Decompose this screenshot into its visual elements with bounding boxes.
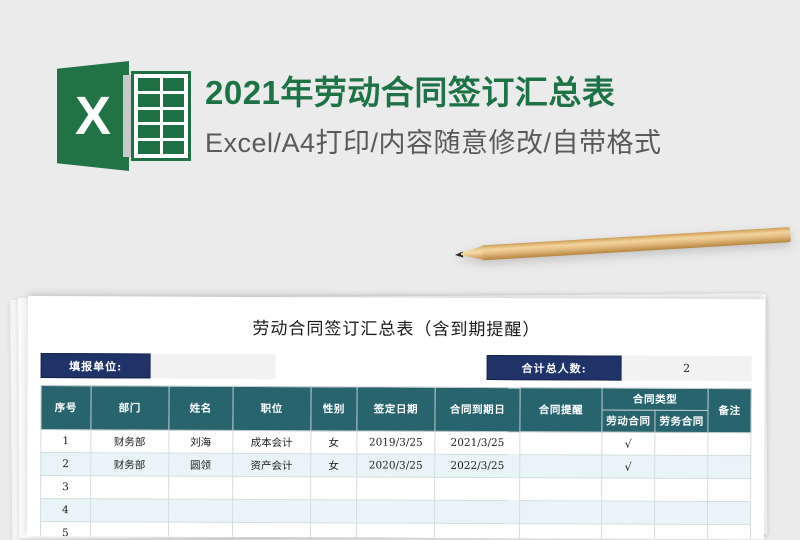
spreadsheet-document: 劳动合同签订汇总表（含到期提醒） 填报单位: 合计总人数: 2 序号 部门 姓名: [27, 296, 765, 539]
pencil-body: [482, 227, 790, 260]
contract-summary-table: 序号 部门 姓名 职位 性别 签定日期 合同到期日 合同提醒 合同类型 备注 劳…: [40, 385, 752, 539]
cell-position[interactable]: [232, 499, 310, 522]
cell-name[interactable]: 刘海: [169, 430, 233, 453]
cell-position[interactable]: [232, 476, 310, 499]
column-header-reminder[interactable]: 合同提醒: [520, 388, 602, 432]
excel-logo-icon: X: [57, 57, 193, 174]
column-header-labor-contract[interactable]: 劳动合同: [602, 410, 655, 432]
cell-labor-contract[interactable]: √: [602, 455, 655, 478]
cell-no[interactable]: 3: [41, 476, 91, 499]
cell-no[interactable]: 1: [41, 430, 91, 453]
hero-subtitle: Excel/A4打印/内容随意修改/自带格式: [205, 127, 765, 161]
cell-labor-contract[interactable]: [601, 524, 654, 539]
cell-remark[interactable]: [708, 432, 751, 455]
cell-sign-date[interactable]: 2020/3/25: [357, 454, 435, 477]
cell-department[interactable]: [90, 499, 168, 522]
excel-logo-grid: [131, 71, 191, 161]
table-header-row-1: 序号 部门 姓名 职位 性别 签定日期 合同到期日 合同提醒 合同类型 备注: [41, 386, 751, 411]
cell-service-contract[interactable]: [655, 455, 708, 478]
filing-unit-label: 填报单位:: [41, 353, 151, 378]
table-row[interactable]: 1 财务部 刘海 成本会计 女 2019/3/25 2021/3/25 √: [41, 430, 751, 456]
logo-grid-cell: [163, 125, 185, 138]
total-headcount-value[interactable]: 2: [622, 356, 752, 382]
column-header-remark[interactable]: 备注: [708, 388, 751, 432]
logo-grid-cell: [138, 125, 160, 138]
cell-expire-date[interactable]: 2021/3/25: [435, 431, 520, 454]
column-header-position[interactable]: 职位: [233, 386, 311, 430]
cell-name[interactable]: [168, 476, 232, 499]
logo-grid-cell: [138, 94, 160, 107]
table-row[interactable]: 2 财务部 圆领 资产会计 女 2020/3/25 2022/3/25 √: [41, 453, 751, 479]
logo-grid-cell: [138, 110, 160, 123]
cell-gender[interactable]: 女: [311, 431, 357, 454]
cell-sign-date[interactable]: [357, 477, 435, 500]
logo-grid-cell: [138, 78, 160, 91]
column-header-gender[interactable]: 性别: [311, 387, 357, 431]
total-headcount-label: 合计总人数:: [487, 355, 622, 381]
cell-name[interactable]: [168, 499, 232, 522]
document-title: 劳动合同签订汇总表（含到期提醒）: [28, 313, 765, 341]
logo-grid-cell: [163, 78, 185, 91]
cell-department[interactable]: 财务部: [91, 430, 169, 453]
cell-gender[interactable]: 女: [310, 454, 356, 477]
column-group-header-contract-type[interactable]: 合同类型: [602, 388, 709, 410]
table-row[interactable]: 4: [41, 499, 751, 525]
cell-remark[interactable]: [708, 478, 751, 501]
cell-service-contract[interactable]: [655, 432, 708, 455]
column-header-no[interactable]: 序号: [41, 386, 91, 430]
cell-expire-date[interactable]: [435, 500, 520, 523]
column-header-department[interactable]: 部门: [91, 386, 169, 430]
meta-spacer: [276, 354, 487, 380]
cell-gender[interactable]: [310, 523, 356, 539]
cell-position[interactable]: 成本会计: [232, 430, 310, 453]
cell-service-contract[interactable]: [654, 524, 707, 539]
cell-service-contract[interactable]: [655, 478, 708, 501]
cell-remark[interactable]: [708, 455, 751, 478]
cell-expire-date[interactable]: [435, 477, 520, 500]
cell-labor-contract[interactable]: [601, 501, 654, 524]
logo-grid-cell: [138, 141, 160, 154]
column-header-service-contract[interactable]: 劳务合同: [655, 410, 708, 432]
cell-position[interactable]: 资产会计: [232, 453, 310, 476]
table-body: 1 财务部 刘海 成本会计 女 2019/3/25 2021/3/25 √ 2 …: [40, 430, 750, 540]
cell-name[interactable]: 圆领: [168, 453, 232, 476]
cell-name[interactable]: [168, 522, 232, 539]
hero-title: 2021年劳动合同签订汇总表: [205, 72, 765, 113]
column-header-name[interactable]: 姓名: [169, 386, 233, 430]
pencil-icon: [455, 227, 791, 263]
logo-grid-cell: [163, 110, 185, 123]
cell-remark[interactable]: [708, 524, 751, 539]
cell-remark[interactable]: [708, 501, 751, 524]
cell-gender[interactable]: [310, 500, 356, 523]
logo-grid-cell: [163, 94, 185, 107]
cell-department[interactable]: 财务部: [90, 453, 168, 476]
logo-grid-cell: [163, 141, 185, 154]
document-meta-row: 填报单位: 合计总人数: 2: [41, 353, 752, 381]
cell-no[interactable]: 4: [41, 499, 91, 522]
cell-service-contract[interactable]: [655, 501, 708, 524]
column-header-sign-date[interactable]: 签定日期: [357, 387, 435, 431]
cell-reminder[interactable]: [520, 455, 602, 478]
filing-unit-value[interactable]: [151, 354, 276, 380]
cell-position[interactable]: [232, 522, 310, 539]
cell-gender[interactable]: [310, 477, 356, 500]
cell-reminder[interactable]: [520, 501, 602, 524]
hero-text-block: 2021年劳动合同签订汇总表 Excel/A4打印/内容随意修改/自带格式: [205, 72, 765, 161]
cell-reminder[interactable]: [520, 432, 602, 455]
column-header-expire-date[interactable]: 合同到期日: [435, 387, 520, 431]
cell-sign-date[interactable]: [356, 523, 434, 539]
cell-sign-date[interactable]: 2019/3/25: [357, 431, 435, 454]
cell-department[interactable]: [90, 476, 168, 499]
cell-no[interactable]: 2: [41, 453, 91, 476]
excel-logo-letter: X: [57, 61, 129, 171]
cell-labor-contract[interactable]: [601, 478, 654, 501]
cell-labor-contract[interactable]: √: [602, 432, 655, 455]
cell-sign-date[interactable]: [356, 500, 434, 523]
table-row[interactable]: 3: [41, 476, 751, 502]
cell-reminder[interactable]: [520, 478, 602, 501]
hero-banner: X 2021年劳动合同签订汇总表 Excel/A4打印/内容随意修改/自带格式: [0, 0, 800, 300]
cell-expire-date[interactable]: 2022/3/25: [435, 454, 520, 477]
